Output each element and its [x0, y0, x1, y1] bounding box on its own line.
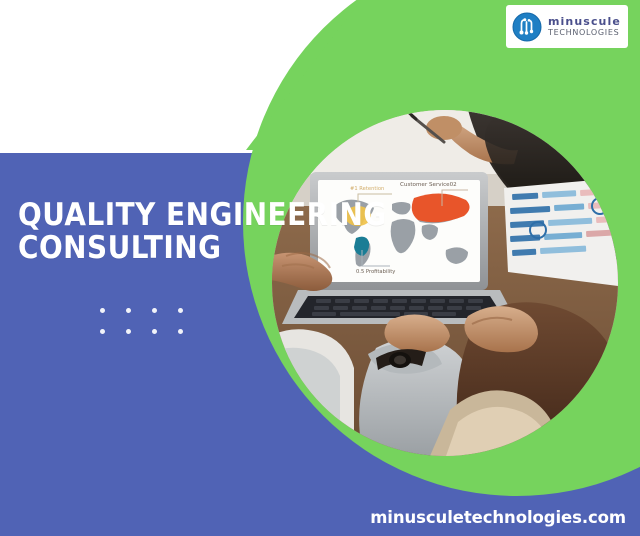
brand-tagline: TECHNOLOGIES [548, 29, 621, 37]
dot [126, 329, 131, 334]
hero-photo: #1 Retention Customer Service02 0.5 Prof… [272, 110, 618, 456]
poster-canvas: #1 Retention Customer Service02 0.5 Prof… [0, 0, 640, 536]
dot [100, 329, 105, 334]
hero-photo-illustration: #1 Retention Customer Service02 0.5 Prof… [272, 110, 618, 456]
network-nodes-circle-icon [512, 12, 542, 42]
brand-logo-text: minuscule TECHNOLOGIES [548, 16, 621, 37]
map-label-profitability: 0.5 Profitability [356, 269, 395, 275]
page-title-line-1: QUALITY ENGINEERING [18, 199, 318, 232]
brand-name: minuscule [548, 16, 621, 27]
dot [126, 308, 131, 313]
decorative-dot-grid [100, 308, 204, 350]
dot [152, 329, 157, 334]
dot [178, 329, 183, 334]
brand-logo[interactable]: minuscule TECHNOLOGIES [506, 5, 628, 48]
map-label-retention: #1 Retention [350, 186, 384, 192]
dot [152, 308, 157, 313]
dot [178, 308, 183, 313]
page-title-line-2: CONSULTING [18, 232, 318, 265]
dot [100, 308, 105, 313]
website-url[interactable]: minusculetechnologies.com [370, 508, 626, 527]
page-title: QUALITY ENGINEERING CONSULTING [18, 199, 318, 266]
map-label-customer-service: Customer Service02 [400, 182, 457, 188]
